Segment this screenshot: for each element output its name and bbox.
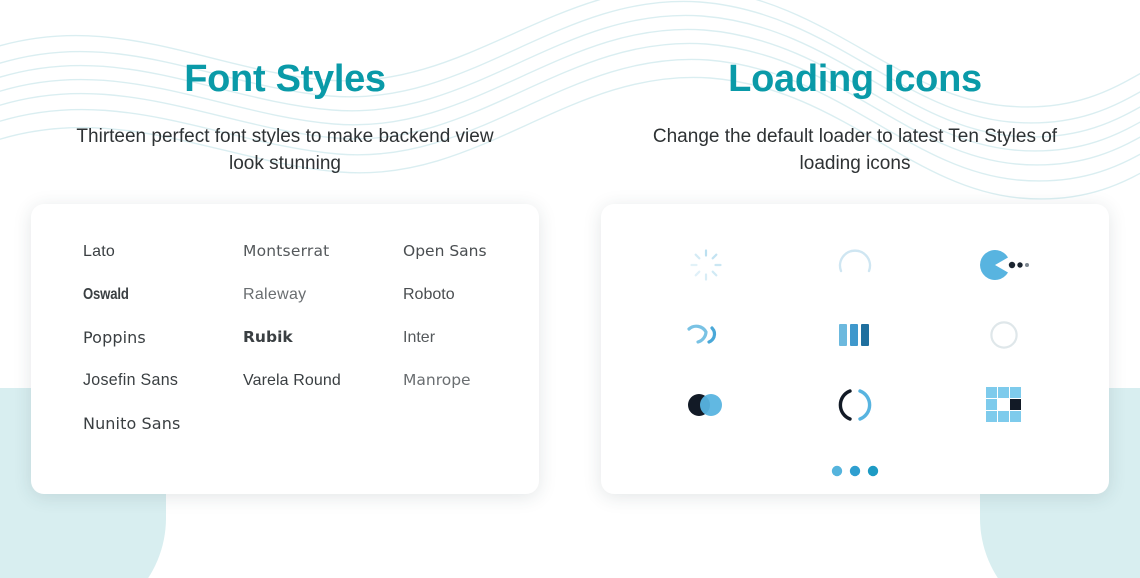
- loader-option-paren-arcs[interactable]: [827, 377, 883, 433]
- arc-circle-icon: [835, 245, 875, 285]
- font-item-inter[interactable]: Inter: [403, 328, 543, 348]
- panel-loading-icons: Loading Icons Change the default loader …: [570, 0, 1140, 578]
- font-item-josefin-sans[interactable]: Josefin Sans: [83, 370, 243, 391]
- panel-font-styles: Font Styles Thirteen perfect font styles…: [0, 0, 570, 578]
- font-item-rubik[interactable]: Rubik: [243, 328, 403, 348]
- page-root: Font Styles Thirteen perfect font styles…: [0, 0, 1140, 578]
- loader-option-two-circles[interactable]: [678, 377, 734, 433]
- font-item-lato[interactable]: Lato: [83, 242, 243, 262]
- loader-option-grid-squares[interactable]: [976, 377, 1032, 433]
- loader-option-spinner-dashes[interactable]: [678, 237, 734, 293]
- paren-arcs-icon: [835, 386, 875, 424]
- panel-subtitle-font-styles: Thirteen perfect font styles to make bac…: [70, 124, 500, 178]
- three-dots-icon: [829, 462, 881, 480]
- font-item-raleway[interactable]: Raleway: [243, 285, 403, 305]
- spinner-dashes-icon: [689, 248, 723, 282]
- font-item-poppins[interactable]: Poppins: [83, 328, 243, 348]
- grid-squares-icon: [986, 387, 1022, 423]
- font-list: Lato Montserrat Open Sans Oswald Raleway…: [83, 242, 497, 434]
- loader-option-three-bars[interactable]: [827, 307, 883, 363]
- loader-option-pacman-dots[interactable]: [976, 237, 1032, 293]
- loader-option-ring-circle[interactable]: [976, 307, 1032, 363]
- two-circles-icon: [683, 390, 729, 420]
- page-title-font-styles: Font Styles: [184, 58, 386, 102]
- three-bars-icon: [835, 319, 875, 351]
- pacman-dots-icon: [978, 249, 1030, 281]
- page-title-loading-icons: Loading Icons: [728, 58, 982, 102]
- panel-subtitle-loading-icons: Change the default loader to latest Ten …: [640, 124, 1070, 178]
- font-item-manrope[interactable]: Manrope: [403, 371, 543, 391]
- font-styles-card: Lato Montserrat Open Sans Oswald Raleway…: [31, 204, 539, 494]
- loader-option-three-dots[interactable]: [827, 443, 883, 499]
- ring-circle-icon: [987, 318, 1021, 352]
- font-item-roboto[interactable]: Roboto: [403, 285, 543, 305]
- font-item-open-sans[interactable]: Open Sans: [403, 242, 543, 262]
- font-item-varela-round[interactable]: Varela Round: [243, 371, 403, 391]
- crescent-arcs-icon: [684, 318, 728, 352]
- font-item-montserrat[interactable]: Montserrat: [243, 242, 403, 262]
- loader-option-crescent-arcs[interactable]: [678, 307, 734, 363]
- loading-icons-card: [601, 204, 1109, 494]
- loader-option-arc-circle[interactable]: [827, 237, 883, 293]
- loader-list: [631, 230, 1079, 502]
- font-item-oswald[interactable]: Oswald: [83, 285, 214, 305]
- font-item-nunito-sans[interactable]: Nunito Sans: [83, 414, 243, 434]
